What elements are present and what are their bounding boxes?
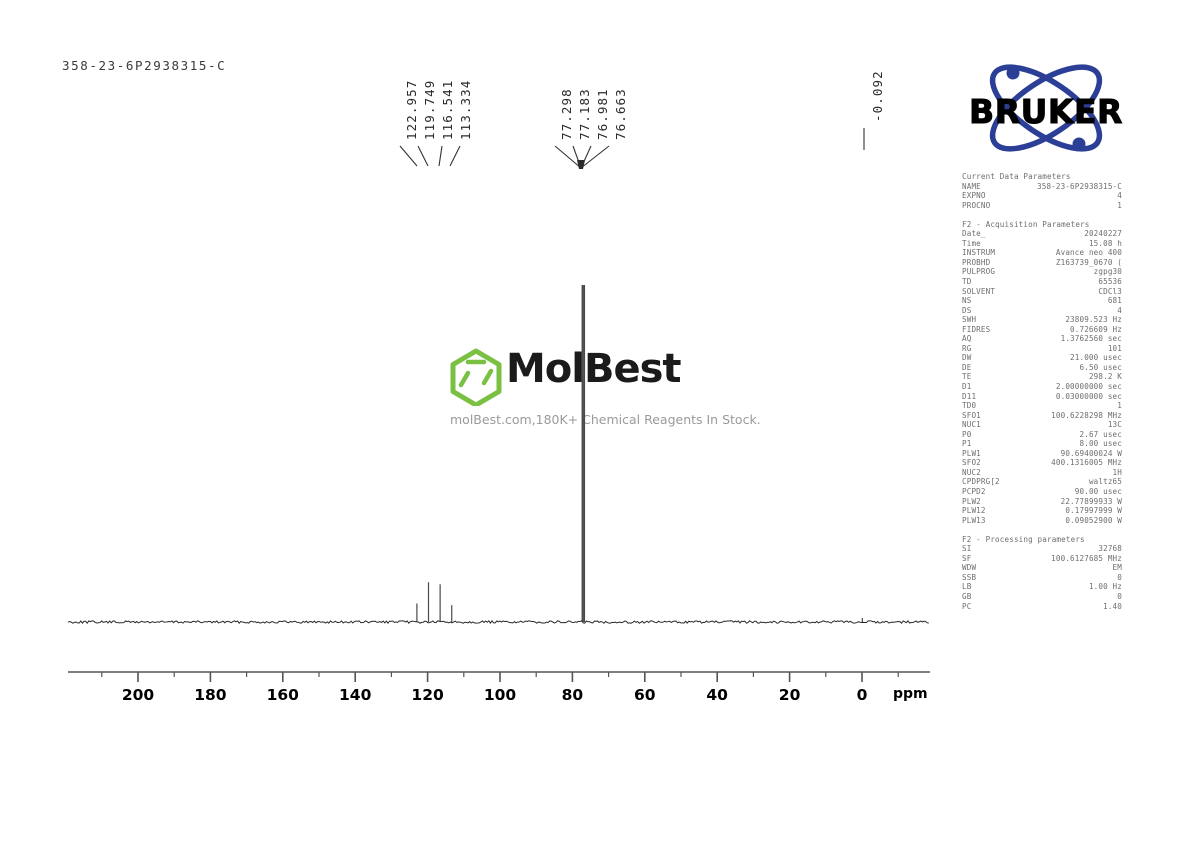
param-key: DS <box>962 306 971 316</box>
param-value: 1 <box>1117 201 1122 211</box>
param-key: WDW <box>962 563 976 573</box>
axis-tick-label-100: 100 <box>484 686 516 704</box>
param-value: waltz65 <box>1089 477 1122 487</box>
param-row: CPDPRG[2waltz65 <box>962 477 1122 487</box>
param-value: 23809.523 Hz <box>1065 315 1122 325</box>
param-value: Z163739_0670 ( <box>1056 258 1122 268</box>
param-key: EXPNO <box>962 191 986 201</box>
param-row: SF100.6127685 MHz <box>962 554 1122 564</box>
param-row: TE298.2 K <box>962 372 1122 382</box>
param-key: RG <box>962 344 971 354</box>
peak-label-119-749: 119.749 <box>422 80 437 140</box>
axis-tick-label-60: 60 <box>634 686 656 704</box>
param-value: Avance neo 400 <box>1056 248 1122 258</box>
param-row: TD65536 <box>962 277 1122 287</box>
param-row: Time15.08 h <box>962 239 1122 249</box>
param-row: PC1.40 <box>962 602 1122 612</box>
param-value: 358-23-6P2938315-C <box>1037 182 1122 192</box>
param-value: 0 <box>1117 592 1122 602</box>
param-row: AQ1.3762560 sec <box>962 334 1122 344</box>
param-row: FIDRES0.726609 Hz <box>962 325 1122 335</box>
param-value: 298.2 K <box>1089 372 1122 382</box>
param-row: PROCNO1 <box>962 201 1122 211</box>
param-row: TD01 <box>962 401 1122 411</box>
param-key: PLW12 <box>962 506 986 516</box>
axis-tick-label-160: 160 <box>267 686 299 704</box>
param-value: 2.00000000 sec <box>1056 382 1122 392</box>
param-section-acquisition: Date_20240227Time15.08 hINSTRUMAvance ne… <box>962 229 1122 525</box>
param-row: PCPD290.00 usec <box>962 487 1122 497</box>
param-row: NUC21H <box>962 468 1122 478</box>
param-value: 1 <box>1117 401 1122 411</box>
param-value: 4 <box>1117 191 1122 201</box>
param-key: TD <box>962 277 971 287</box>
watermark-tagline: molBest.com,180K+ Chemical Reagents In S… <box>450 412 761 427</box>
param-value: 1.00 Hz <box>1089 582 1122 592</box>
param-key: INSTRUM <box>962 248 995 258</box>
param-value: 13C <box>1108 420 1122 430</box>
axis-tick-label-80: 80 <box>562 686 584 704</box>
param-key: SI <box>962 544 971 554</box>
param-key: SFO1 <box>962 411 981 421</box>
param-row: NAME358-23-6P2938315-C <box>962 182 1122 192</box>
param-value: 15.08 h <box>1089 239 1122 249</box>
param-value: 100.6127685 MHz <box>1051 554 1122 564</box>
param-key: PLW13 <box>962 516 986 526</box>
param-value: 90.00 usec <box>1075 487 1122 497</box>
peak-label-116-541: 116.541 <box>440 80 455 140</box>
param-value: 0.09052900 W <box>1065 516 1122 526</box>
param-key: TD0 <box>962 401 976 411</box>
param-key: D11 <box>962 392 976 402</box>
param-key: SFO2 <box>962 458 981 468</box>
param-row: D110.03000000 sec <box>962 392 1122 402</box>
param-value: 8.00 usec <box>1080 439 1123 449</box>
param-section-title-acquisition: F2 - Acquisition Parameters <box>962 220 1122 230</box>
param-key: CPDPRG[2 <box>962 477 1000 487</box>
param-key: TE <box>962 372 971 382</box>
param-value: 100.6228298 MHz <box>1051 411 1122 421</box>
param-value: 90.69400024 W <box>1061 449 1122 459</box>
param-key: PLW1 <box>962 449 981 459</box>
param-key: Time <box>962 239 981 249</box>
param-row: SOLVENTCDCl3 <box>962 287 1122 297</box>
peak-label-122-957: 122.957 <box>404 80 419 140</box>
param-value: 681 <box>1108 296 1122 306</box>
param-row: PULPROGzgpg30 <box>962 267 1122 277</box>
param-value: 2.67 usec <box>1080 430 1123 440</box>
param-row: NS681 <box>962 296 1122 306</box>
param-key: NUC1 <box>962 420 981 430</box>
param-section-processing: SI32768SF100.6127685 MHzWDWEMSSB0LB1.00 … <box>962 544 1122 611</box>
param-row: RG101 <box>962 344 1122 354</box>
param-value: 22.77899933 W <box>1061 497 1122 507</box>
param-key: FIDRES <box>962 325 990 335</box>
param-value: 101 <box>1108 344 1122 354</box>
axis-tick-label-120: 120 <box>411 686 443 704</box>
param-row: SFO2400.1316005 MHz <box>962 458 1122 468</box>
param-value: 400.1316005 MHz <box>1051 458 1122 468</box>
param-row: PLW130.09052900 W <box>962 516 1122 526</box>
param-row: INSTRUMAvance neo 400 <box>962 248 1122 258</box>
param-row: LB1.00 Hz <box>962 582 1122 592</box>
param-key: DE <box>962 363 971 373</box>
param-row: PLW222.77899933 W <box>962 497 1122 507</box>
param-value: 0 <box>1117 573 1122 583</box>
param-key: PCPD2 <box>962 487 986 497</box>
param-row: GB0 <box>962 592 1122 602</box>
param-value: 21.000 usec <box>1070 353 1122 363</box>
param-key: P0 <box>962 430 971 440</box>
acquisition-parameters-panel: Current Data Parameters NAME358-23-6P293… <box>962 172 1122 611</box>
peak-label-76-981: 76.981 <box>595 88 610 140</box>
param-key: DW <box>962 353 971 363</box>
molbest-watermark: MolBest molBest.com,180K+ Chemical Reage… <box>448 344 748 434</box>
axis-unit-label: ppm <box>893 686 928 702</box>
param-row: P02.67 usec <box>962 430 1122 440</box>
peak-label-76-663: 76.663 <box>613 88 628 140</box>
param-key: AQ <box>962 334 971 344</box>
param-row: PLW190.69400024 W <box>962 449 1122 459</box>
param-key: Date_ <box>962 229 986 239</box>
param-row: Date_20240227 <box>962 229 1122 239</box>
param-value: 20240227 <box>1084 229 1122 239</box>
param-row: DW21.000 usec <box>962 353 1122 363</box>
param-row: DS4 <box>962 306 1122 316</box>
bruker-wordmark: BRUKER <box>958 92 1134 131</box>
param-key: NS <box>962 296 971 306</box>
param-key: LB <box>962 582 971 592</box>
solvent-leader-convergence-marker <box>577 160 585 169</box>
param-key: PC <box>962 602 971 612</box>
param-key: GB <box>962 592 971 602</box>
param-row: PROBHDZ163739_0670 ( <box>962 258 1122 268</box>
peak-label-77-298: 77.298 <box>559 88 574 140</box>
param-row: SI32768 <box>962 544 1122 554</box>
param-section-current-data: NAME358-23-6P2938315-CEXPNO4PROCNO1 <box>962 182 1122 211</box>
nmr-spectrum-page: 358-23-6P2938315-C 122.957 119.749 116.5… <box>0 0 1190 842</box>
watermark-brand: MolBest <box>506 346 681 392</box>
param-row: NUC113C <box>962 420 1122 430</box>
param-value: 1.40 <box>1103 602 1122 612</box>
sample-title: 358-23-6P2938315-C <box>62 58 226 73</box>
param-value: EM <box>1113 563 1122 573</box>
param-value: 1.3762560 sec <box>1061 334 1122 344</box>
param-key: PROBHD <box>962 258 990 268</box>
param-value: 0.03000000 sec <box>1056 392 1122 402</box>
param-key: SF <box>962 554 971 564</box>
param-key: PLW2 <box>962 497 981 507</box>
param-key: NUC2 <box>962 468 981 478</box>
axis-tick-label-140: 140 <box>339 686 371 704</box>
param-section-title-processing: F2 - Processing parameters <box>962 535 1122 545</box>
param-key: PULPROG <box>962 267 995 277</box>
param-row: P18.00 usec <box>962 439 1122 449</box>
axis-tick-label-40: 40 <box>706 686 728 704</box>
param-row: DE6.50 usec <box>962 363 1122 373</box>
axis-tick-label-180: 180 <box>194 686 226 704</box>
param-value: 0.17997999 W <box>1065 506 1122 516</box>
param-value: 0.726609 Hz <box>1070 325 1122 335</box>
param-row: SSB0 <box>962 573 1122 583</box>
param-value: 32768 <box>1098 544 1122 554</box>
bruker-logo: BRUKER <box>958 56 1134 160</box>
peak-label-77-183: 77.183 <box>577 88 592 140</box>
param-row: WDWEM <box>962 563 1122 573</box>
param-key: NAME <box>962 182 981 192</box>
param-row: PLW120.17997999 W <box>962 506 1122 516</box>
param-key: P1 <box>962 439 971 449</box>
param-value: zgpg30 <box>1094 267 1122 277</box>
param-value: CDCl3 <box>1098 287 1122 297</box>
axis-tick-label-20: 20 <box>779 686 801 704</box>
param-key: SWH <box>962 315 976 325</box>
axis-tick-label-200: 200 <box>122 686 154 704</box>
param-key: PROCNO <box>962 201 990 211</box>
param-row: SWH23809.523 Hz <box>962 315 1122 325</box>
param-value: 65536 <box>1098 277 1122 287</box>
param-value: 6.50 usec <box>1080 363 1123 373</box>
param-row: SFO1100.6228298 MHz <box>962 411 1122 421</box>
param-section-title-current-data: Current Data Parameters <box>962 172 1122 182</box>
param-key: SSB <box>962 573 976 583</box>
param-value: 1H <box>1113 468 1122 478</box>
param-row: EXPNO4 <box>962 191 1122 201</box>
param-key: SOLVENT <box>962 287 995 297</box>
param-row: D12.00000000 sec <box>962 382 1122 392</box>
param-key: D1 <box>962 382 971 392</box>
axis-tick-label-0: 0 <box>857 686 868 704</box>
peak-label-minus-0-092: -0.092 <box>870 70 885 122</box>
benzene-hexagon-icon <box>448 348 504 406</box>
param-value: 4 <box>1117 306 1122 316</box>
peak-label-113-334: 113.334 <box>458 80 473 140</box>
